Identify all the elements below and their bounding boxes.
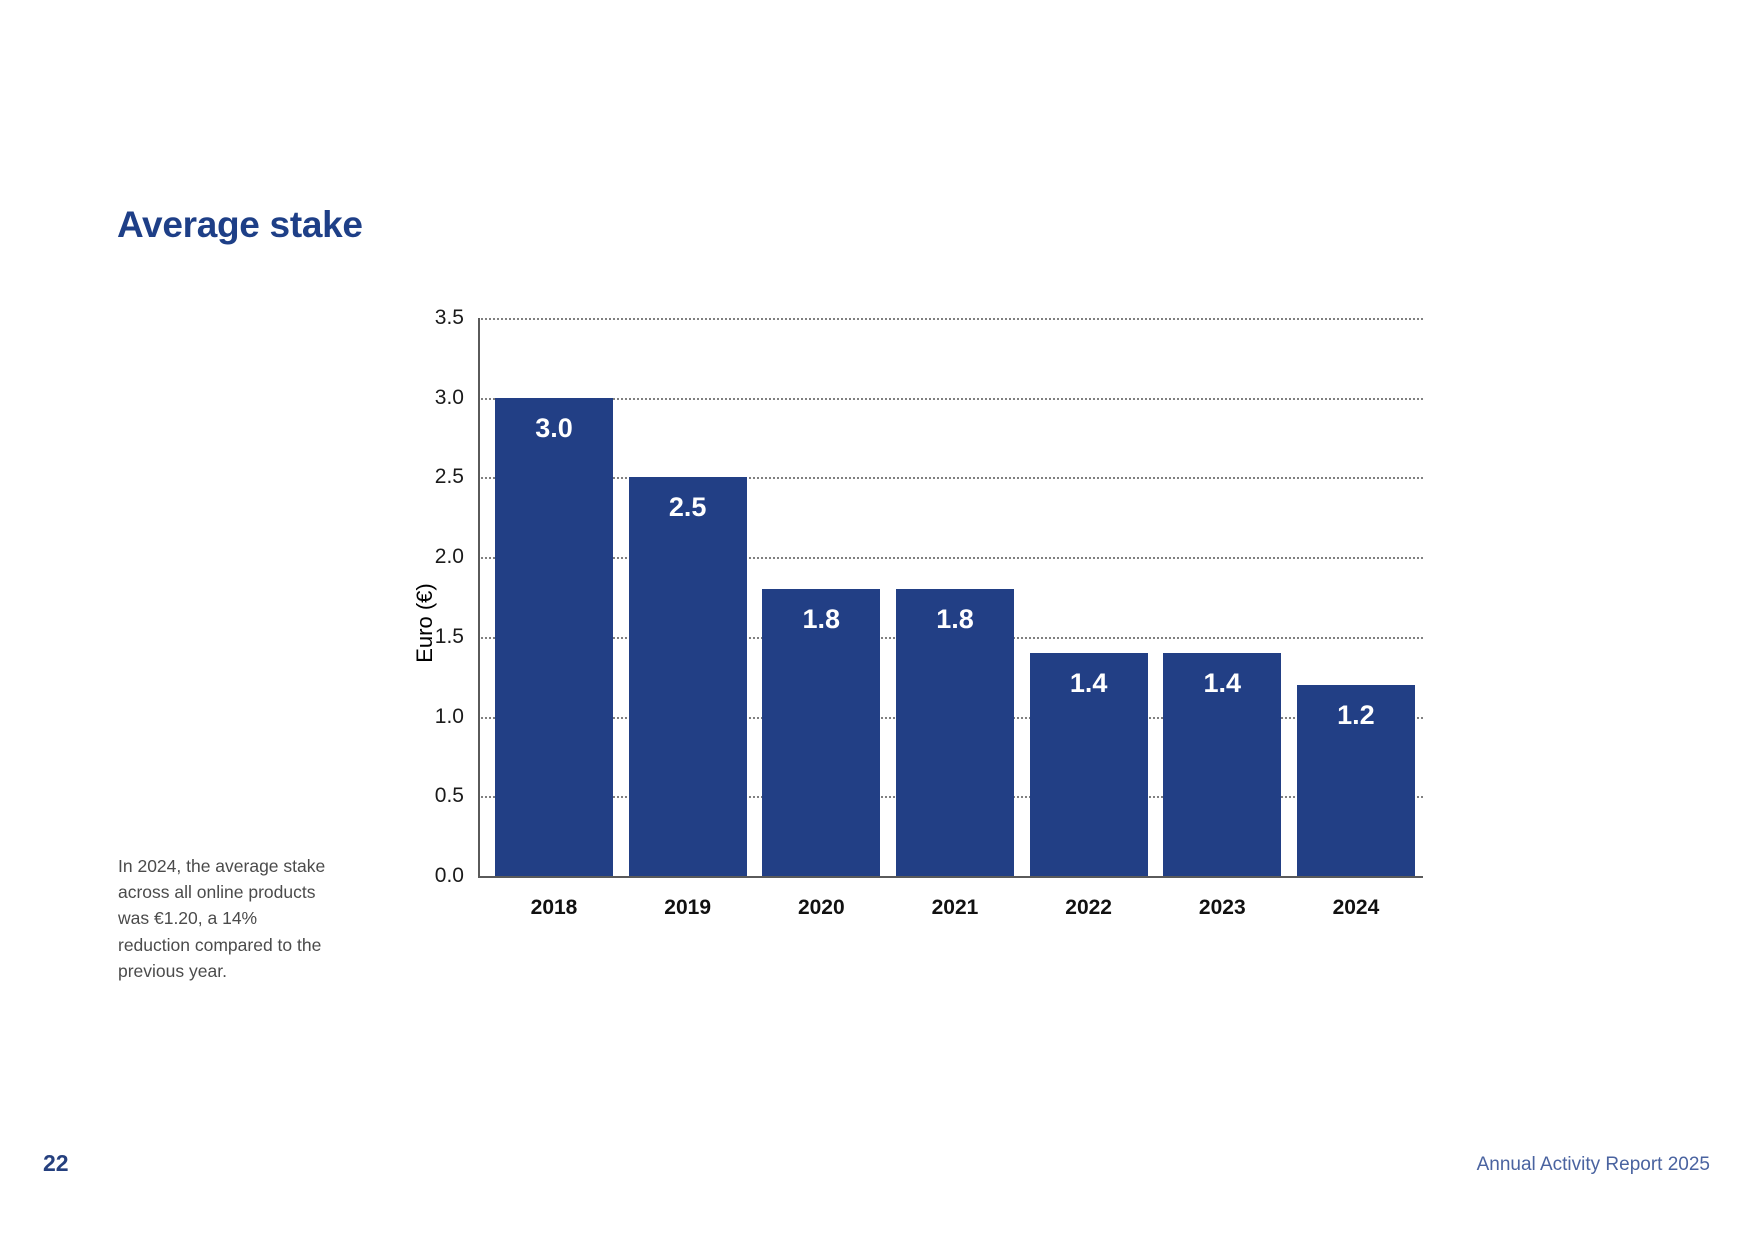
bar-value-label: 1.2 — [1297, 700, 1415, 731]
bar-value-label: 1.8 — [896, 604, 1014, 635]
y-tick-label: 0.0 — [408, 864, 464, 888]
x-tick-label: 2024 — [1285, 896, 1427, 920]
y-tick-label: 1.5 — [408, 625, 464, 649]
x-tick-label: 2023 — [1151, 896, 1293, 920]
bar-column: 1.82021 — [896, 318, 1014, 876]
bar-value-label: 3.0 — [495, 413, 613, 444]
x-axis-line — [478, 876, 1423, 878]
y-tick-label: 2.0 — [408, 545, 464, 569]
y-axis-tick-labels: 0.00.51.01.52.02.53.03.5 — [400, 318, 464, 876]
bar: 3.0 — [495, 398, 613, 876]
bar-column: 3.02018 — [495, 318, 613, 876]
bar: 1.4 — [1030, 653, 1148, 876]
x-tick-label: 2022 — [1018, 896, 1160, 920]
chart-caption-text: In 2024, the average stake across all on… — [118, 853, 333, 985]
bar: 1.8 — [896, 589, 1014, 876]
bar-value-label: 2.5 — [629, 492, 747, 523]
x-tick-label: 2018 — [483, 896, 625, 920]
y-tick-label: 3.5 — [408, 306, 464, 330]
bar-value-label: 1.4 — [1163, 668, 1281, 699]
y-tick-label: 3.0 — [408, 386, 464, 410]
bar-column: 1.42022 — [1030, 318, 1148, 876]
bar: 1.2 — [1297, 685, 1415, 876]
plot-area: 3.020182.520191.820201.820211.420221.420… — [478, 318, 1423, 876]
page-title: Average stake — [117, 204, 363, 246]
bar: 1.8 — [762, 589, 880, 876]
bar-column: 1.42023 — [1163, 318, 1281, 876]
bar-column: 2.52019 — [629, 318, 747, 876]
footer-page-number: 22 — [43, 1150, 69, 1177]
average-stake-bar-chart: Euro (€) 0.00.51.01.52.02.53.03.5 3.0201… — [400, 318, 1430, 918]
y-axis-line — [478, 318, 480, 876]
x-tick-label: 2021 — [884, 896, 1026, 920]
y-tick-label: 2.5 — [408, 465, 464, 489]
bar: 2.5 — [629, 477, 747, 876]
y-tick-label: 1.0 — [408, 705, 464, 729]
x-tick-label: 2020 — [750, 896, 892, 920]
footer-report-label: Annual Activity Report 2025 — [1477, 1154, 1710, 1176]
bar-column: 1.22024 — [1297, 318, 1415, 876]
x-tick-label: 2019 — [617, 896, 759, 920]
y-tick-label: 0.5 — [408, 784, 464, 808]
bar-value-label: 1.4 — [1030, 668, 1148, 699]
bar-column: 1.82020 — [762, 318, 880, 876]
bar: 1.4 — [1163, 653, 1281, 876]
bar-value-label: 1.8 — [762, 604, 880, 635]
bar-series: 3.020182.520191.820201.820211.420221.420… — [481, 318, 1423, 876]
